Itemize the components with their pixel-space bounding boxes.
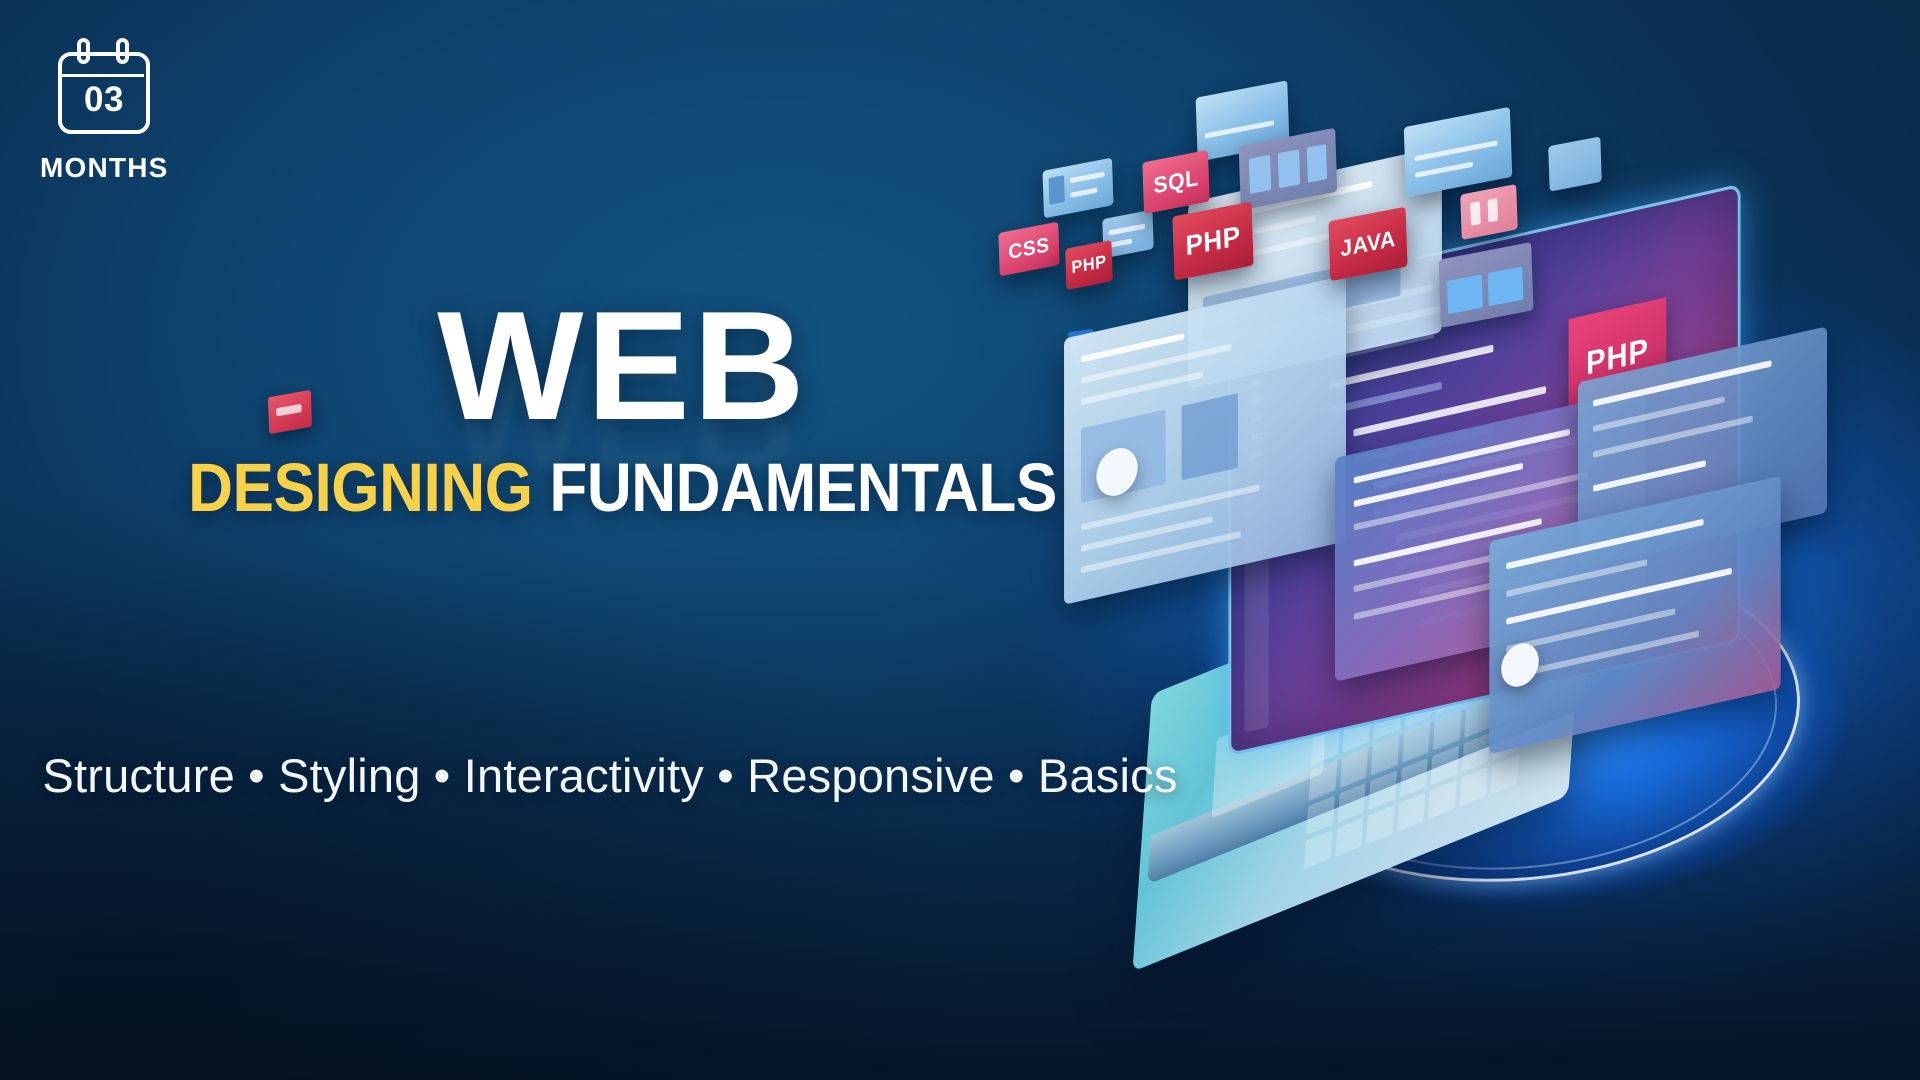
tech-chip-php: PHP [1065,240,1113,290]
page-subtitle: DESIGNING FUNDAMENTALS [62,453,1183,522]
course-banner: 03 MONTHS [0,0,1920,1080]
laptop-illustration: PHP [1150,60,1920,1010]
duration-number: 03 [58,82,150,117]
calendar-icon: 03 [58,38,150,134]
tagline: Structure • Styling • Interactivity • Re… [0,748,1220,803]
duration-unit-label: MONTHS [40,152,169,184]
subtitle-highlight: DESIGNING [188,449,532,526]
subtitle-rest: FUNDAMENTALS [549,449,1056,526]
headline-block: WEB DESIGNING FUNDAMENTALS [0,292,1245,522]
tech-chip-css: CSS [998,222,1059,277]
calendar-divider [60,74,144,77]
floating-panel [1042,158,1113,219]
course-duration-badge: 03 MONTHS [40,38,220,184]
page-title: WEB [0,292,1245,439]
